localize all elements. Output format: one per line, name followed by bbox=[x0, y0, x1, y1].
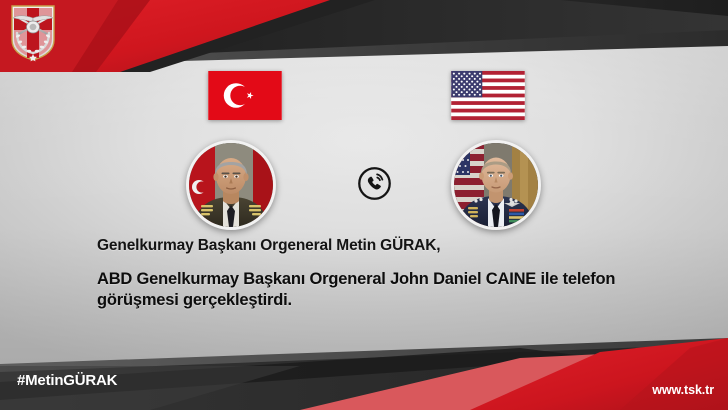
metin-gurak-portrait bbox=[186, 140, 276, 230]
united-states-flag-icon bbox=[451, 71, 525, 120]
announcement-text: Genelkurmay Başkanı Orgeneral Metin GÜRA… bbox=[97, 236, 657, 311]
turkey-flag-icon bbox=[208, 71, 282, 120]
hashtag-label: #MetinGÜRAK bbox=[17, 372, 117, 389]
genelkurmay-emblem-icon bbox=[8, 4, 58, 62]
john-daniel-caine-portrait bbox=[451, 140, 541, 230]
announcement-line-2: ABD Genelkurmay Başkanı Orgeneral John D… bbox=[97, 269, 657, 311]
announcement-line-1: Genelkurmay Başkanı Orgeneral Metin GÜRA… bbox=[97, 236, 657, 256]
website-label: www.tsk.tr bbox=[652, 383, 714, 397]
phone-call-icon bbox=[357, 166, 392, 201]
tsk-announcement-graphic: Genelkurmay Başkanı Orgeneral Metin GÜRA… bbox=[0, 0, 728, 410]
top-banner bbox=[0, 0, 728, 72]
